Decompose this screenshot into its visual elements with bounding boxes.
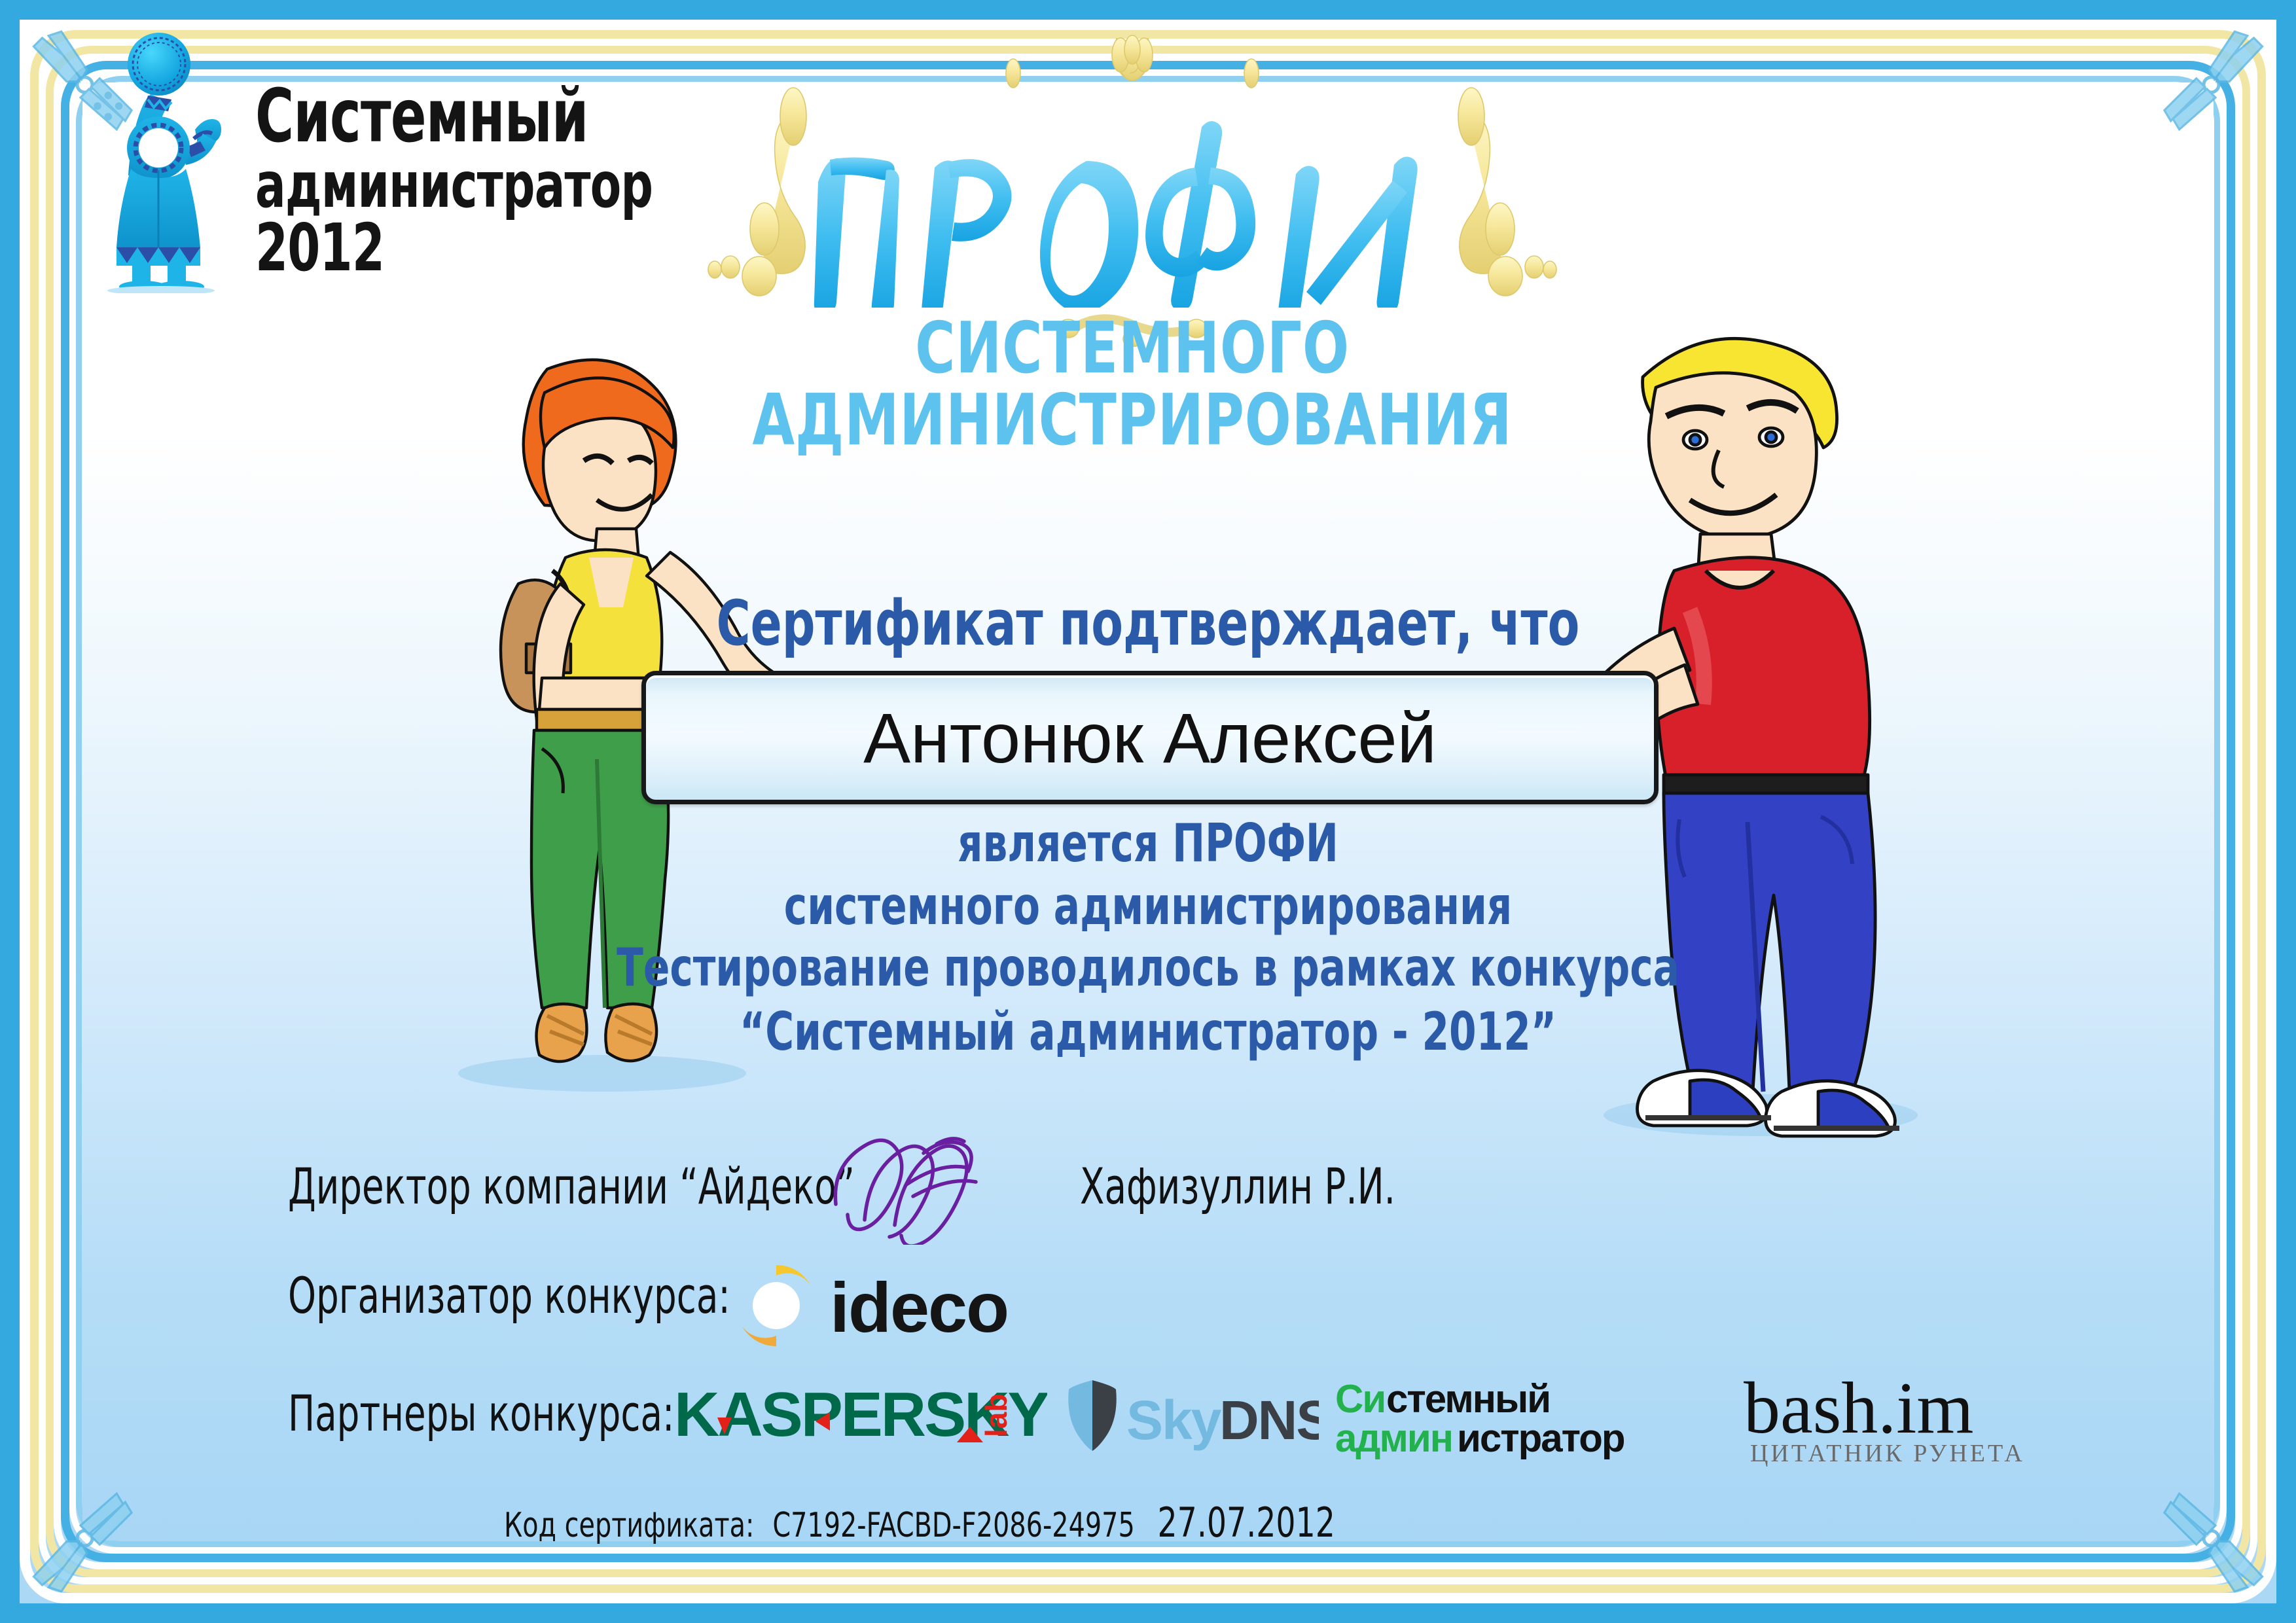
code-value: C7192-FACBD-F2086-24975 <box>772 1506 1134 1545</box>
certificate-code-line: Код сертификата: C7192-FACBD-F2086-24975… <box>504 1499 1335 1546</box>
bashim-wordmark: bash.im <box>1744 1368 1974 1449</box>
bashim-logo: bash.im ЦИТАТНИК РУНЕТА <box>1741 1364 2029 1469</box>
sysadmin-black-2: истратор <box>1457 1416 1624 1459</box>
skydns-logo: Sky DNS <box>1064 1376 1319 1455</box>
organizer-label: Организатор конкурса: <box>288 1266 730 1325</box>
profi-subtitle-line-2: АДМИНИСТРИРОВАНИЯ <box>744 380 1521 461</box>
pliers-icon <box>5 1467 156 1618</box>
ideco-ring-icon <box>736 1265 817 1346</box>
pliers-icon <box>2140 5 2291 156</box>
shield-icon <box>1068 1380 1116 1451</box>
eskimo-with-ball-icon <box>85 31 252 293</box>
certificate-page: Системный администратор 2012 <box>0 0 2296 1623</box>
contest-line: “Системный администратор - 2012” <box>195 1001 2101 1062</box>
director-label: Директор компании “Айдеко” <box>288 1157 855 1215</box>
pliers-icon <box>2140 1467 2291 1618</box>
brand-logo-wordmark: Системный администратор 2012 <box>255 82 622 279</box>
code-label: Код сертификата: <box>504 1506 754 1545</box>
sysadmin-magazine-logo: Си стемный админ истратор <box>1335 1374 1702 1459</box>
svg-text:lab: lab <box>979 1394 1013 1437</box>
issue-date: 27.07.2012 <box>1158 1499 1335 1546</box>
skydns-dns: DNS <box>1219 1389 1319 1451</box>
sysadmin-green-1: Си <box>1335 1377 1385 1421</box>
recipient-name-plate: Антонюк Алексей <box>641 671 1659 804</box>
brand-logo: Системный администратор 2012 <box>79 26 622 301</box>
is-profi-line: является ПРОФИ <box>195 813 2101 874</box>
skydns-sky: Sky <box>1126 1389 1222 1451</box>
testing-line: Тестирование проводилось в рамках конкур… <box>195 937 2101 998</box>
kaspersky-lab-suffix: lab <box>979 1394 1013 1437</box>
profi-subtitle-line-1: СИСТЕМНОГО <box>744 308 1521 389</box>
ideco-logo: ideco <box>720 1253 1060 1358</box>
profi-wordmark <box>779 105 1486 308</box>
partners-label: Партнеры конкурса: <box>288 1384 674 1442</box>
bashim-tagline: ЦИТАТНИК РУНЕТА <box>1750 1440 2025 1467</box>
director-name: Хафизуллин Р.И. <box>1080 1157 1395 1215</box>
brand-line-1: Системный <box>255 82 548 152</box>
ideco-wordmark: ideco <box>830 1268 1008 1347</box>
recipient-name: Антонюк Алексей <box>863 697 1437 779</box>
confirm-line: Сертификат подтверждает, что <box>195 588 2101 660</box>
sysadmin-line: системного администрирования <box>195 876 2101 936</box>
kaspersky-lab-logo: KASPERSKY lab <box>674 1374 1047 1456</box>
sysadmin-green-2: админ <box>1335 1416 1452 1459</box>
brand-line-3-year: 2012 <box>255 217 548 279</box>
handwritten-signature-icon <box>821 1127 1024 1245</box>
brand-line-2: администратор <box>255 155 548 215</box>
sysadmin-black-1: стемный <box>1386 1377 1550 1421</box>
